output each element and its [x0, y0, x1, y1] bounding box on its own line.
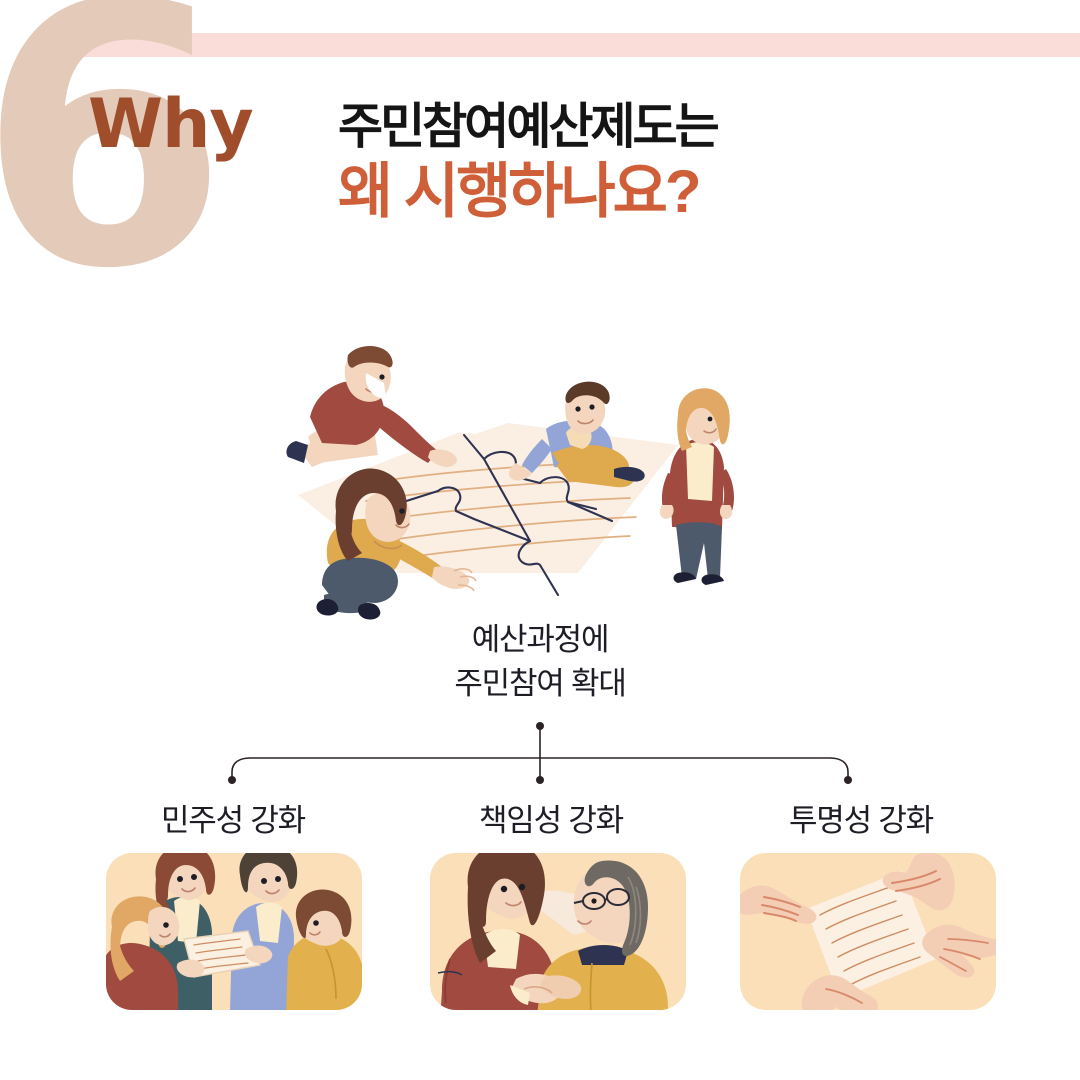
connector-node-top [536, 722, 544, 730]
branch-connector [0, 714, 1080, 794]
hero-caption-line1: 예산과정에 [0, 618, 1080, 662]
branch-thumbnails [0, 848, 1080, 1023]
connector-node-center [536, 776, 544, 784]
page-title-line1: 주민참여예산제도는 [338, 100, 717, 155]
connector-node-left [228, 776, 236, 784]
branch-label-democracy: 민주성 강화 [100, 795, 366, 840]
section-eyebrow-why: Why [88, 85, 253, 164]
page-title: 주민참여예산제도는 왜 시행하나요? [338, 100, 717, 226]
page-title-line2: 왜 시행하나요? [338, 158, 717, 226]
thumbnail-transparency [740, 853, 996, 1010]
infographic-card: 6 Why 주민참여예산제도는 왜 시행하나요? [0, 0, 1080, 1080]
branch-labels: 민주성 강화 책임성 강화 투명성 강화 [0, 795, 1080, 841]
hero-illustration [278, 305, 788, 625]
hero-caption: 예산과정에 주민참여 확대 [0, 618, 1080, 706]
thumbnail-accountability [430, 853, 686, 1010]
connector-node-right [844, 776, 852, 784]
hero-caption-line2: 주민참여 확대 [0, 662, 1080, 706]
branch-label-transparency: 투명성 강화 [728, 795, 994, 840]
branch-label-accountability: 책임성 강화 [418, 795, 684, 840]
thumbnail-democracy [106, 853, 362, 1010]
